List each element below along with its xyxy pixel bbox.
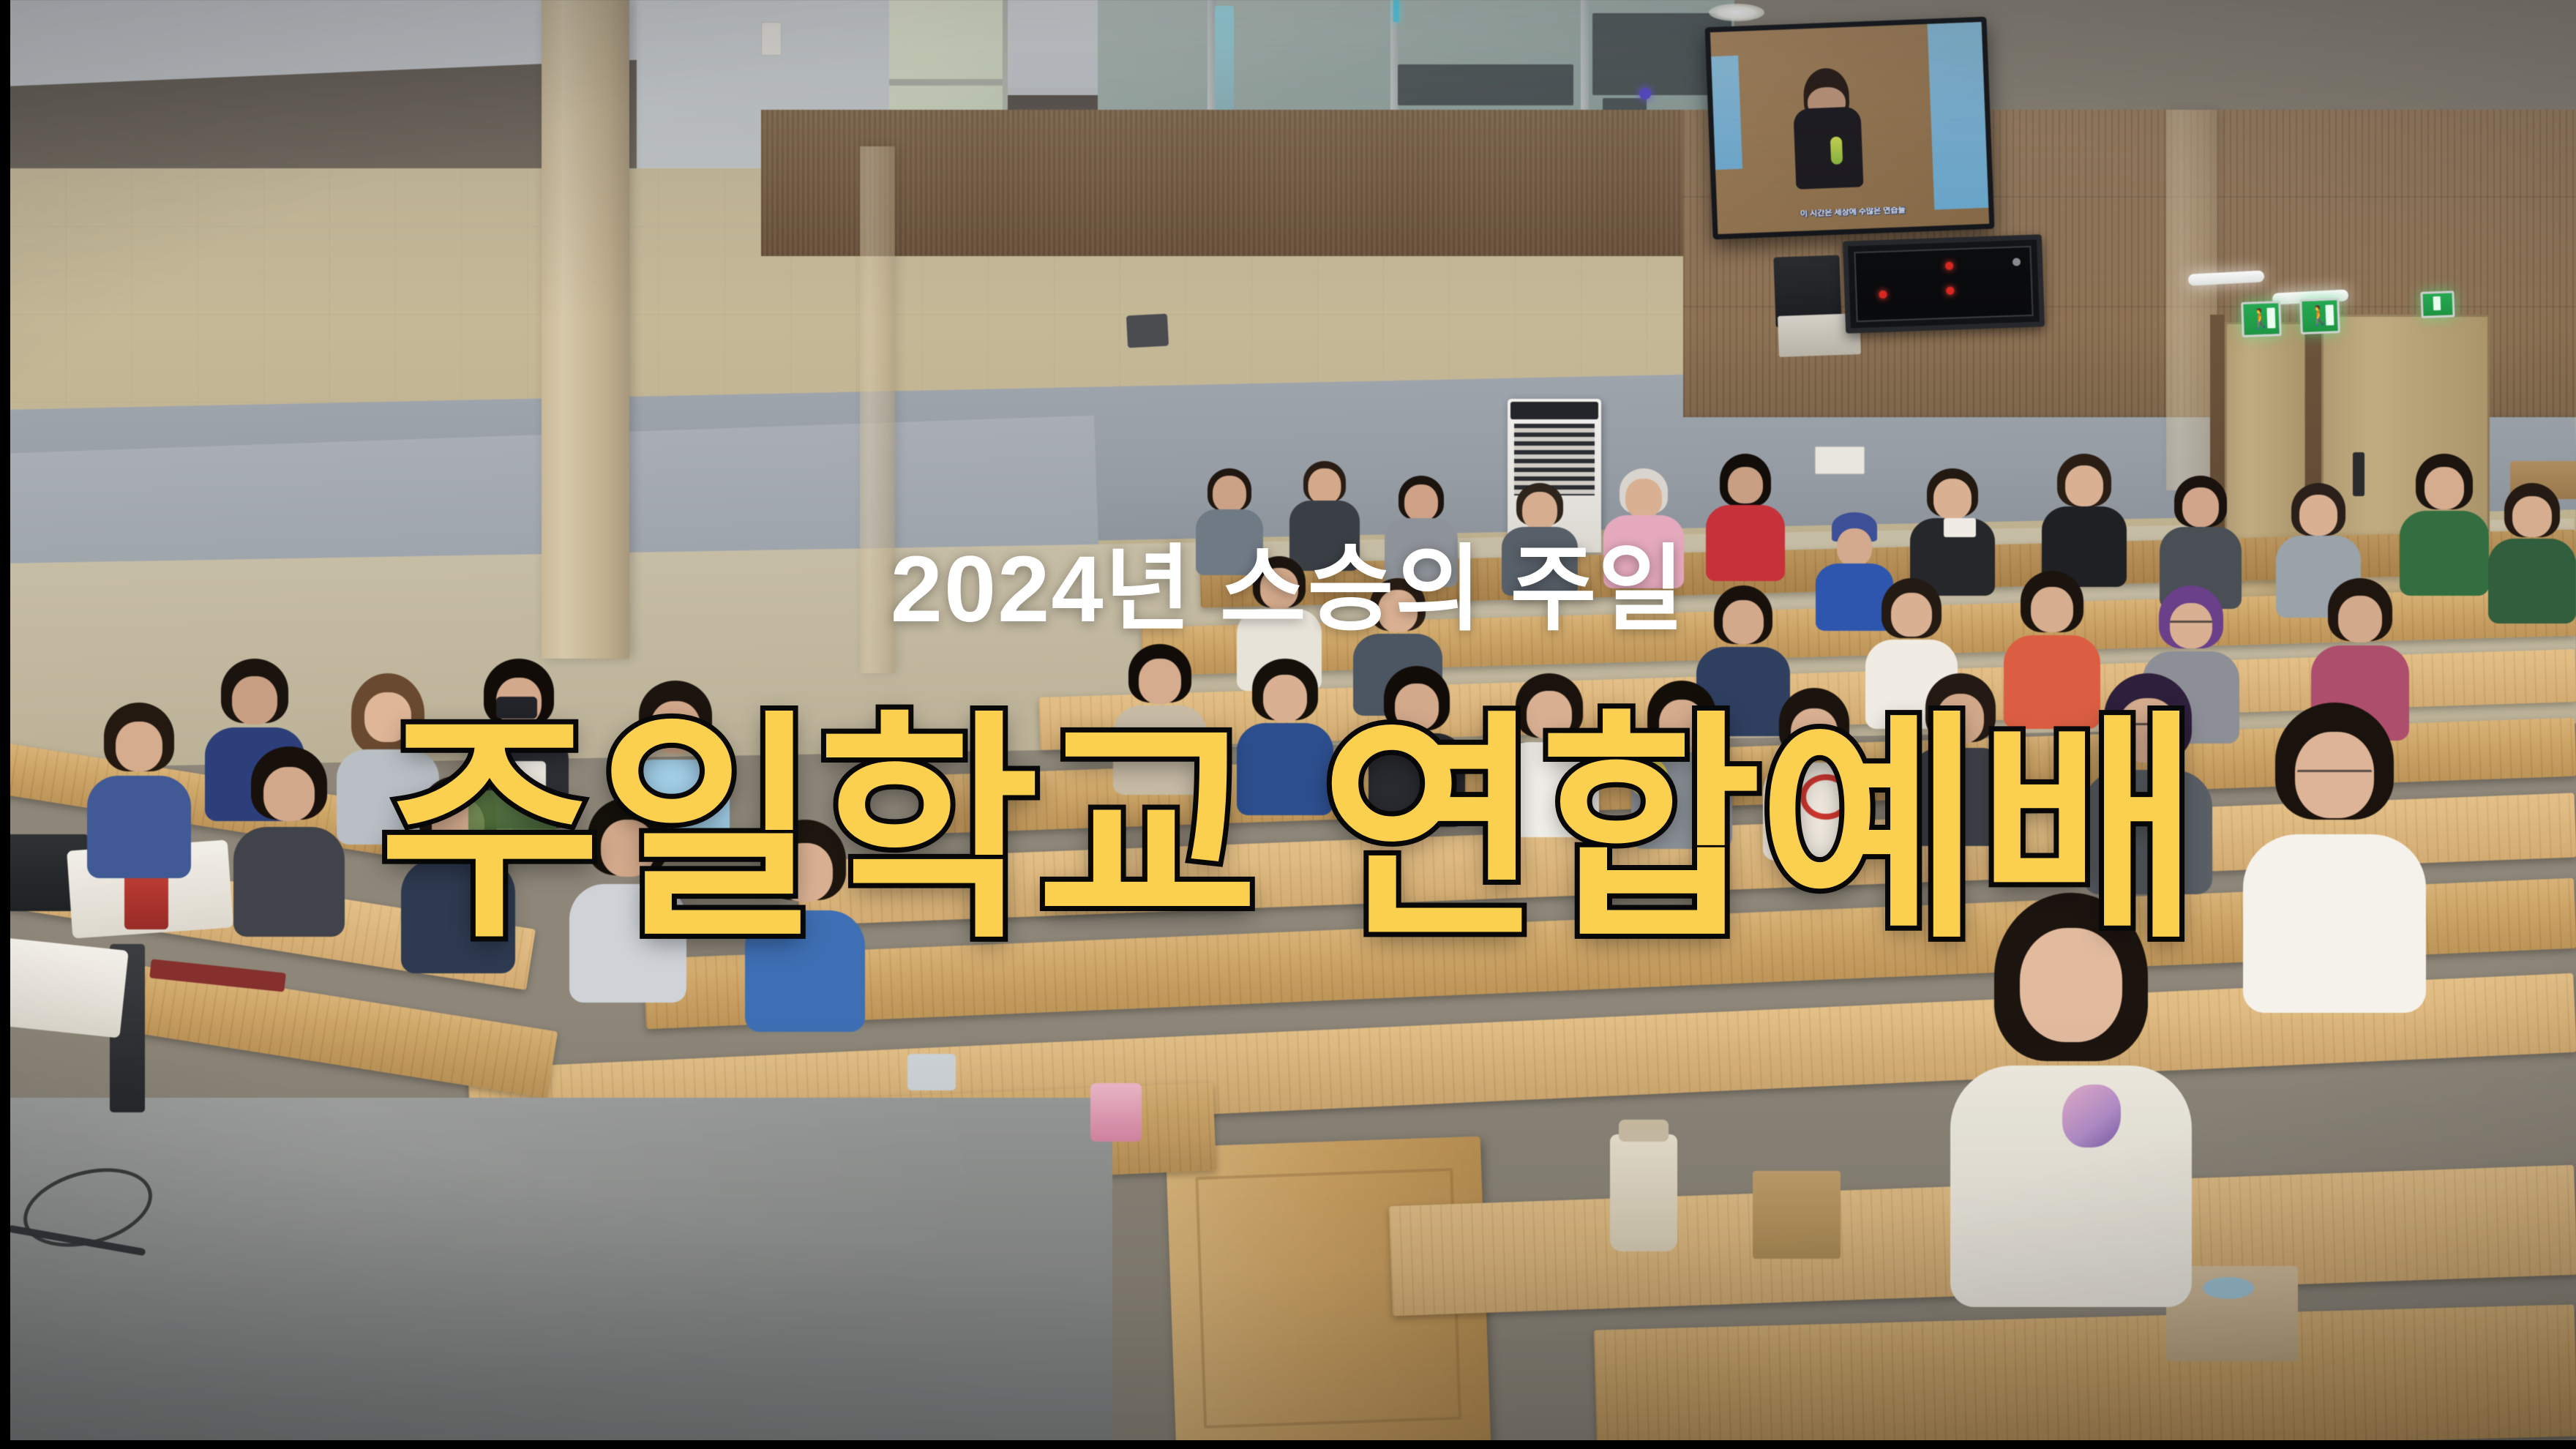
frame-edge-bottom — [0, 1440, 2576, 1449]
event-subtitle: 2024년 스승의 주일 — [0, 543, 2576, 637]
wall-switch-plate — [1815, 446, 1865, 474]
pink-bag — [1090, 1083, 1142, 1142]
tv-singer-figure — [1785, 71, 1871, 199]
small-item — [907, 1054, 956, 1090]
tv-picture: 이 시간은 세상에 수많은 연습들 — [1710, 22, 1989, 234]
wall-speaker — [1126, 314, 1169, 348]
broadcast-tv-screen: 이 시간은 세상에 수많은 연습들 — [1705, 17, 1995, 240]
ceiling-downlight — [1709, 4, 1764, 21]
tv-caption-line-1: 이 시간은 세상에 수많은 연습들 — [1734, 204, 1973, 222]
running-man-icon: 🚶 — [2248, 307, 2265, 330]
tissue-box-motif — [2203, 1277, 2254, 1299]
exit-door-glyph — [2433, 296, 2441, 310]
exit-door-glyph — [2325, 304, 2334, 325]
door-handle[interactable] — [2353, 452, 2365, 496]
hymn-number-board — [1843, 234, 2045, 333]
tv-blue-edge-left — [1711, 56, 1742, 170]
ac-top-vent — [1510, 402, 1598, 419]
frame-edge-left — [0, 0, 10, 1449]
tv-singer-body — [1794, 106, 1864, 189]
tumbler-cup — [1610, 1134, 1677, 1251]
emergency-exit-sign-1: 🚶 — [2241, 301, 2282, 337]
carpet-floor — [0, 1098, 1112, 1449]
pew-rail-foreground — [1594, 1304, 2576, 1449]
video-thumbnail-frame: 이 시간은 세상에 수많은 연습들 🚶 🚶 — [0, 0, 2576, 1449]
event-title: 주일학교 연합예배 — [0, 703, 2576, 959]
emergency-exit-sign-2: 🚶 — [2299, 298, 2340, 334]
wall-outlet — [761, 22, 782, 56]
tv-microphone — [1830, 136, 1842, 165]
hymn-board-inner — [1854, 246, 2033, 322]
wooden-box — [1753, 1171, 1841, 1259]
exit-door-glyph — [2266, 307, 2275, 328]
window-mullion — [889, 79, 1003, 86]
running-man-icon: 🚶 — [2307, 304, 2324, 327]
corsage-flower — [2062, 1085, 2121, 1147]
tv-blue-edge-right — [1927, 22, 1988, 210]
tumbler-lid — [1619, 1120, 1669, 1142]
emergency-exit-sign-3 — [2420, 291, 2455, 318]
